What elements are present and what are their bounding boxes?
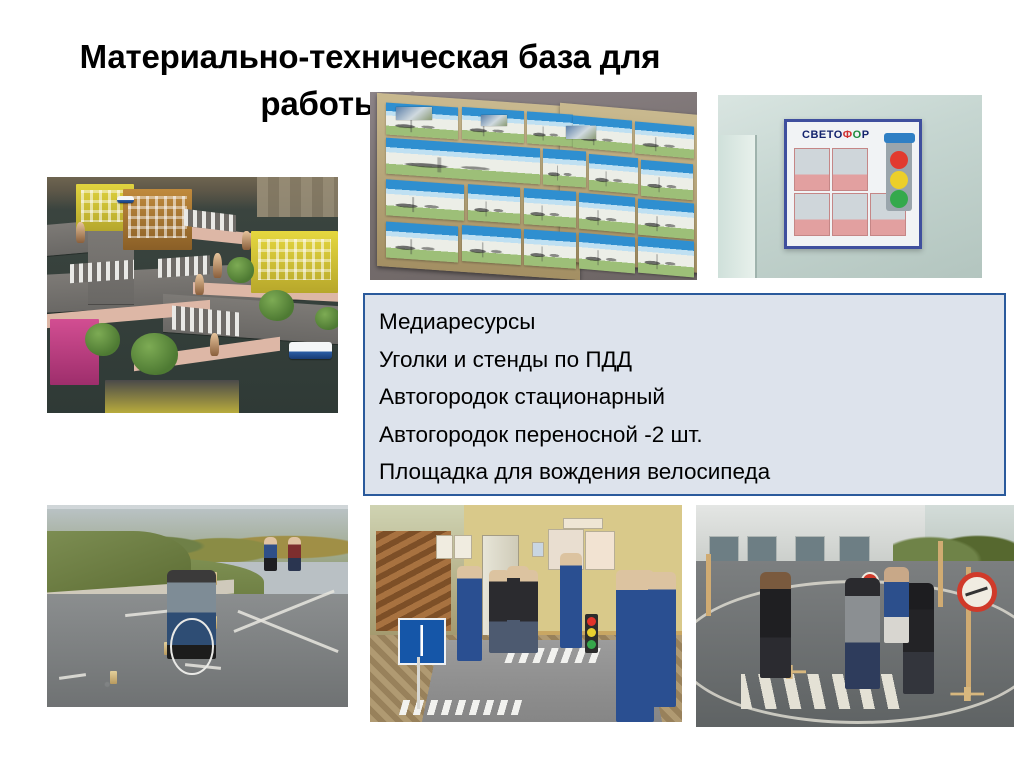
traffic-light-icon [585, 614, 597, 653]
photo-pdd-posters: Стенд с плакатами по правилам дорожного … [370, 92, 697, 280]
photo-model-town: Макет автогородка с домами, дорогами и п… [47, 177, 338, 413]
indoor-autogorodok-scene [370, 505, 682, 722]
no-bicycles-sign [957, 572, 997, 612]
model-town-scene [47, 177, 338, 413]
textbox-line-4: Автогородок переносной -2 шт. [379, 416, 1004, 454]
content-textbox: Медиаресурсы Уголки и стенды по ПДД Авто… [363, 293, 1006, 496]
pedestrian-crossing-sign [398, 618, 446, 665]
svetofor-board: СВЕТОФОР [784, 119, 922, 249]
svetofor-board-title: СВЕТОФОР [792, 126, 879, 146]
presentation-slide: Материально-техническая база для работы … [0, 0, 1024, 767]
photo-svetofor-stand: СВЕТОФОР Настенный стенд СВЕТОФОР [718, 95, 982, 278]
textbox-line-1: Медиаресурсы [379, 303, 1004, 341]
outdoor-autogorodok-scene [696, 505, 1014, 727]
photo-outdoor-autogorodok: Переносной автогородок на улице [696, 505, 1014, 727]
photo-bicycle-ground: Площадка для вождения велосипеда [47, 505, 348, 707]
textbox-line-3: Автогородок стационарный [379, 378, 1004, 416]
bicycle [170, 618, 213, 675]
bicycle-ground-scene [47, 505, 348, 707]
textbox-line-5: Площадка для вождения велосипеда [379, 453, 1004, 491]
textbox-line-2: Уголки и стенды по ПДД [379, 341, 1004, 379]
svetofor-scene: СВЕТОФОР [718, 95, 982, 278]
pdd-posters-scene [370, 92, 697, 280]
photo-indoor-autogorodok: Переносной автогородок в помещении школы [370, 505, 682, 722]
traffic-light-icon [886, 139, 912, 211]
